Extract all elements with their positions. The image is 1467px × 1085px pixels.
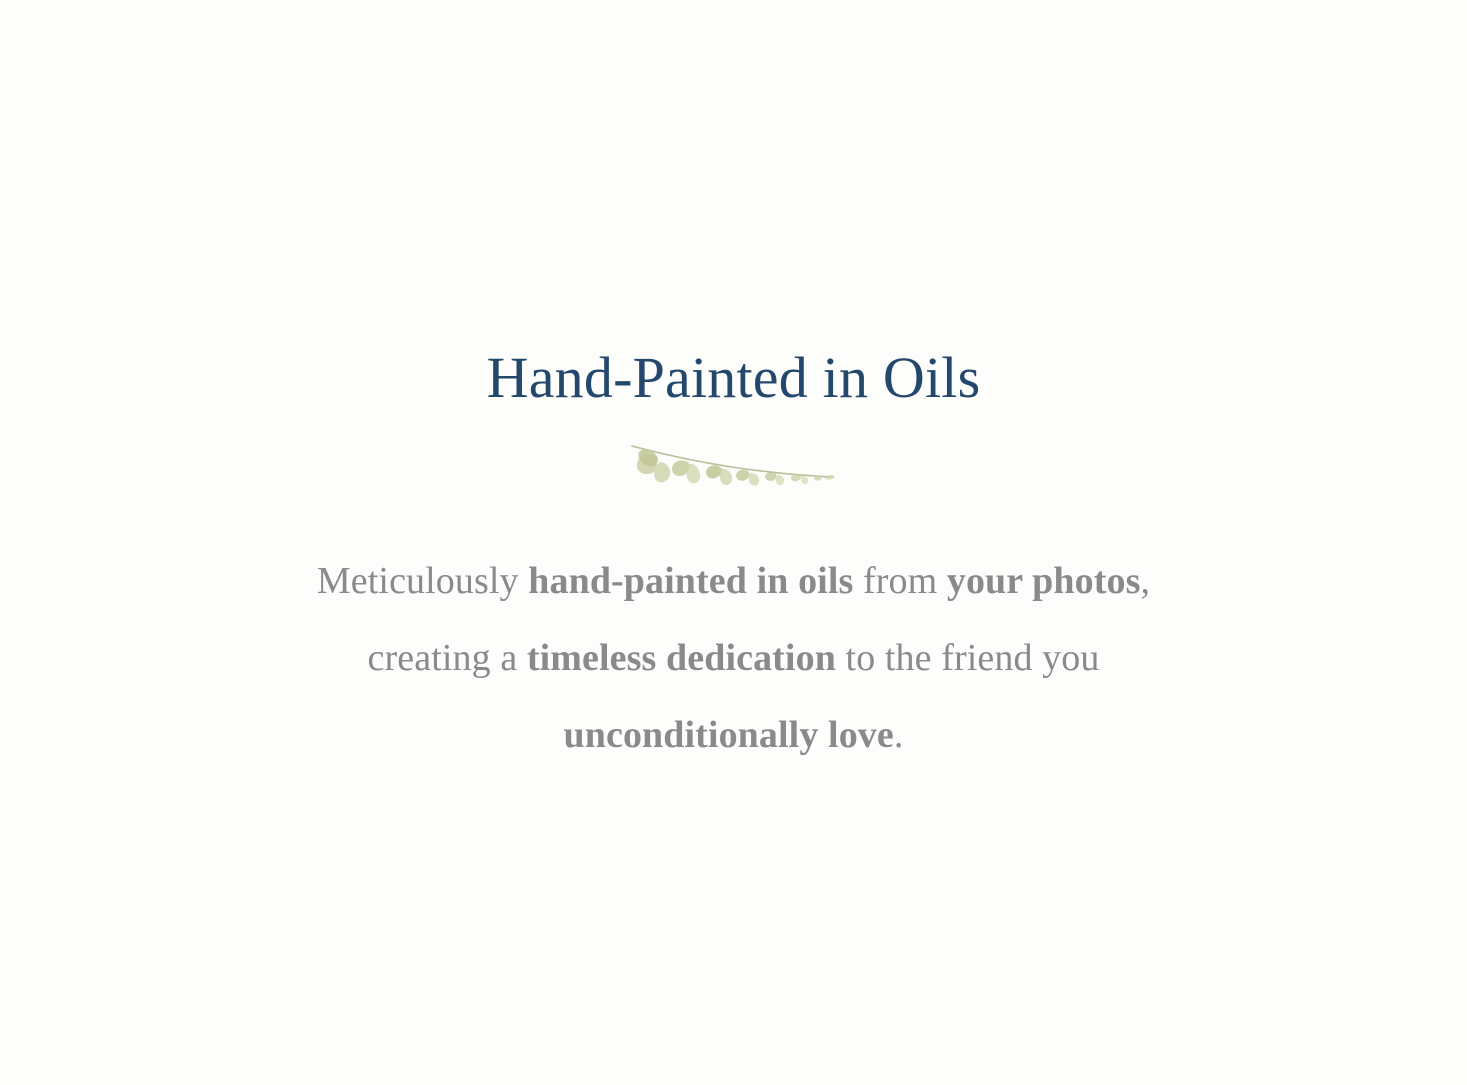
desc-segment-3: your photos (947, 560, 1141, 602)
olive-branch-divider (0, 440, 1467, 490)
desc-segment-2: from (853, 560, 946, 602)
hand-painted-section: Hand-Painted in Oils (0, 0, 1467, 1085)
desc-segment-0: Meticulously (317, 560, 528, 602)
desc-segment-7: unconditionally love (564, 714, 894, 756)
desc-segment-8: . (894, 714, 904, 756)
olive-branch-icon (628, 442, 840, 488)
section-description: Meticulously hand-painted in oils from y… (284, 543, 1184, 774)
desc-segment-6: to the friend you (836, 637, 1100, 679)
page-title: Hand-Painted in Oils (0, 345, 1467, 412)
desc-segment-5: timeless dedication (527, 637, 836, 679)
desc-segment-1: hand-painted in oils (528, 560, 853, 602)
